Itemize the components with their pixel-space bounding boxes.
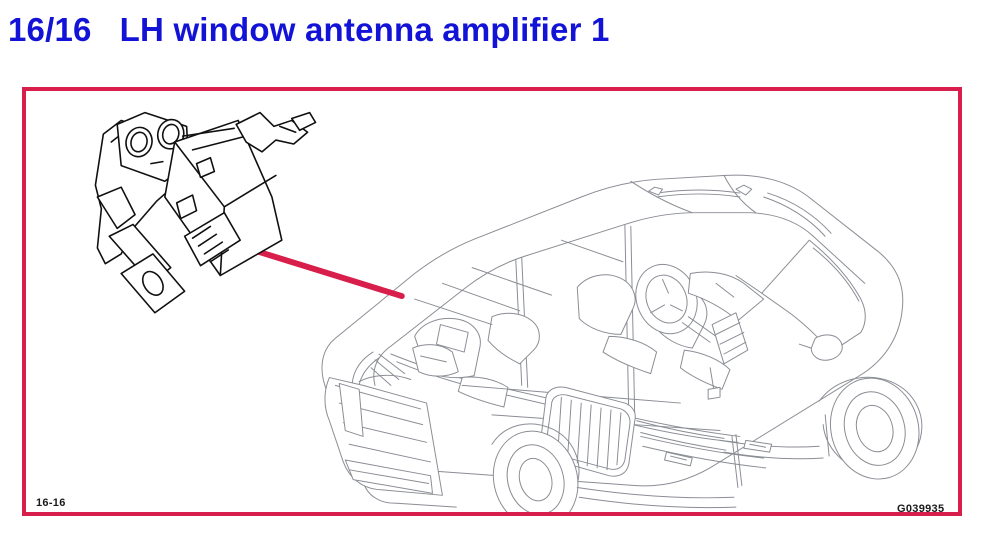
diagram-page: 16/16 LH window antenna amplifier 1 (0, 0, 986, 533)
figure-caption-bottom-right: G039935 (897, 503, 944, 515)
vehicle-illustration (322, 175, 931, 512)
figure-frame (22, 87, 962, 516)
figure-illustration (26, 91, 958, 512)
page-title: 16/16 LH window antenna amplifier 1 (8, 8, 908, 56)
antenna-amplifier-module (95, 113, 315, 313)
figure-caption-bottom-left: 16-16 (36, 497, 66, 509)
